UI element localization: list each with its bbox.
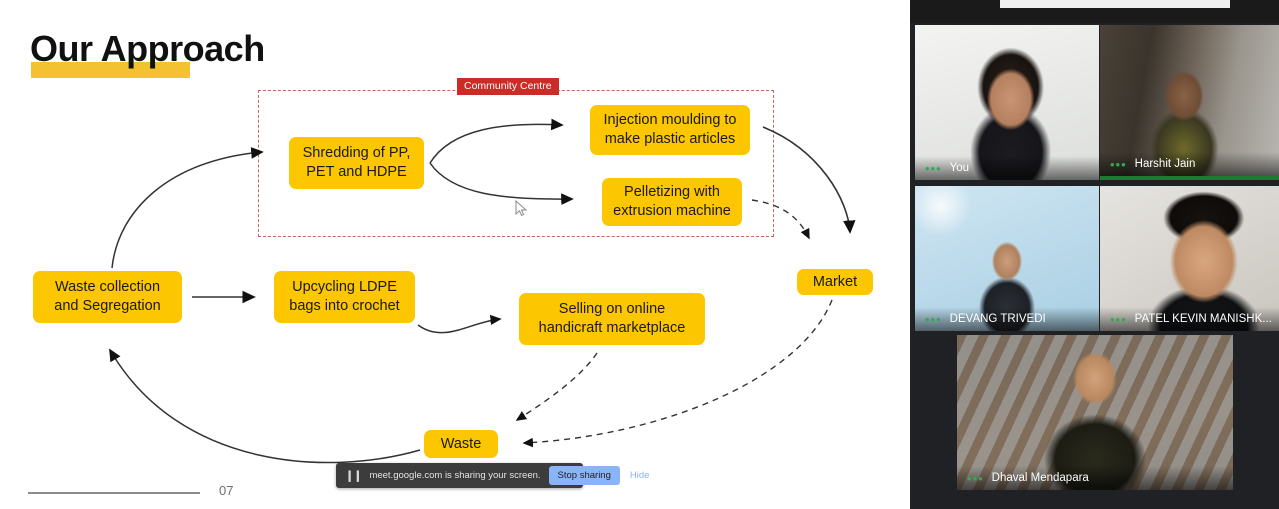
mouse-pointer-icon (515, 200, 529, 218)
more-options-icon[interactable]: ••• (925, 315, 942, 324)
node-text-line: bags into crochet (289, 298, 399, 314)
participant-tile-dhaval-mendapara[interactable]: ••• Dhaval Mendapara (957, 335, 1233, 490)
node-text-line: Shredding of PP, (303, 145, 411, 161)
shared-screen-slide: Our Approach Community Centre (0, 0, 910, 509)
stop-sharing-button[interactable]: Stop sharing (549, 466, 620, 485)
participant-namebar: ••• You (915, 156, 1099, 180)
participant-name: Dhaval Mendapara (992, 472, 1089, 484)
participants-panel: ••• You ••• Harshit Jain ••• DEVANG TRIV… (910, 0, 1279, 509)
node-injection-moulding: Injection moulding to make plastic artic… (590, 105, 750, 155)
node-selling-label: Selling on online handicraft marketplace (539, 300, 686, 338)
participant-namebar: ••• DEVANG TRIVEDI (915, 307, 1099, 331)
participant-tile-harshit-jain[interactable]: ••• Harshit Jain (1100, 25, 1279, 180)
more-options-icon[interactable]: ••• (1110, 315, 1127, 324)
node-text-line: PET and HDPE (306, 164, 406, 180)
participant-namebar: ••• Harshit Jain (1100, 152, 1279, 176)
screen-share-bar[interactable]: ❙❙ meet.google.com is sharing your scree… (336, 463, 583, 488)
participant-name: You (950, 162, 969, 174)
node-text-line: make plastic articles (605, 131, 736, 147)
node-text-line: and Segregation (54, 298, 160, 314)
participant-tile-devang-trivedi[interactable]: ••• DEVANG TRIVEDI (915, 186, 1099, 331)
node-injection-label: Injection moulding to make plastic artic… (604, 111, 737, 149)
more-options-icon[interactable]: ••• (967, 474, 984, 483)
node-waste: Waste (424, 430, 498, 458)
participant-namebar: ••• Dhaval Mendapara (957, 466, 1233, 490)
more-options-icon[interactable]: ••• (925, 164, 942, 173)
node-market: Market (797, 269, 873, 295)
node-text-line: Waste collection (55, 279, 160, 295)
node-upcycling-label: Upcycling LDPE bags into crochet (289, 278, 399, 316)
participant-tile-patel-kevin[interactable]: ••• PATEL KEVIN MANISHK... (1100, 186, 1279, 331)
page-title: Our Approach (30, 28, 265, 70)
node-waste-collection: Waste collection and Segregation (33, 271, 182, 323)
node-text-line: Upcycling LDPE (292, 279, 397, 295)
node-text-line: Pelletizing with (624, 184, 720, 200)
node-shredding: Shredding of PP, PET and HDPE (289, 137, 424, 189)
hide-bar-button[interactable]: Hide (630, 470, 650, 481)
node-shredding-label: Shredding of PP, PET and HDPE (303, 144, 411, 182)
panel-top-strip-highlight (1000, 0, 1230, 8)
node-upcycling-ldpe: Upcycling LDPE bags into crochet (274, 271, 415, 323)
participant-tile-you[interactable]: ••• You (915, 25, 1099, 180)
node-text-line: Selling on online (559, 301, 665, 317)
pause-icon[interactable]: ❙❙ (345, 469, 361, 482)
node-text-line: extrusion machine (613, 203, 731, 219)
screen-root: Our Approach Community Centre (0, 0, 1279, 509)
participant-name: Harshit Jain (1135, 158, 1196, 170)
panel-top-strip (910, 0, 1279, 23)
community-centre-badge: Community Centre (457, 78, 559, 95)
node-text-line: Injection moulding to (604, 112, 737, 128)
footer-rule (28, 492, 200, 494)
node-text-line: handicraft marketplace (539, 320, 686, 336)
node-waste-collection-label: Waste collection and Segregation (54, 278, 160, 316)
more-options-icon[interactable]: ••• (1110, 160, 1127, 169)
participant-name: PATEL KEVIN MANISHK... (1135, 313, 1272, 325)
participant-namebar: ••• PATEL KEVIN MANISHK... (1100, 307, 1279, 331)
node-pelletizing-label: Pelletizing with extrusion machine (613, 183, 731, 221)
page-number: 07 (219, 483, 233, 498)
participant-name: DEVANG TRIVEDI (950, 313, 1046, 325)
node-pelletizing: Pelletizing with extrusion machine (602, 178, 742, 226)
node-selling-online: Selling on online handicraft marketplace (519, 293, 705, 345)
share-message: meet.google.com is sharing your screen. (369, 470, 540, 481)
